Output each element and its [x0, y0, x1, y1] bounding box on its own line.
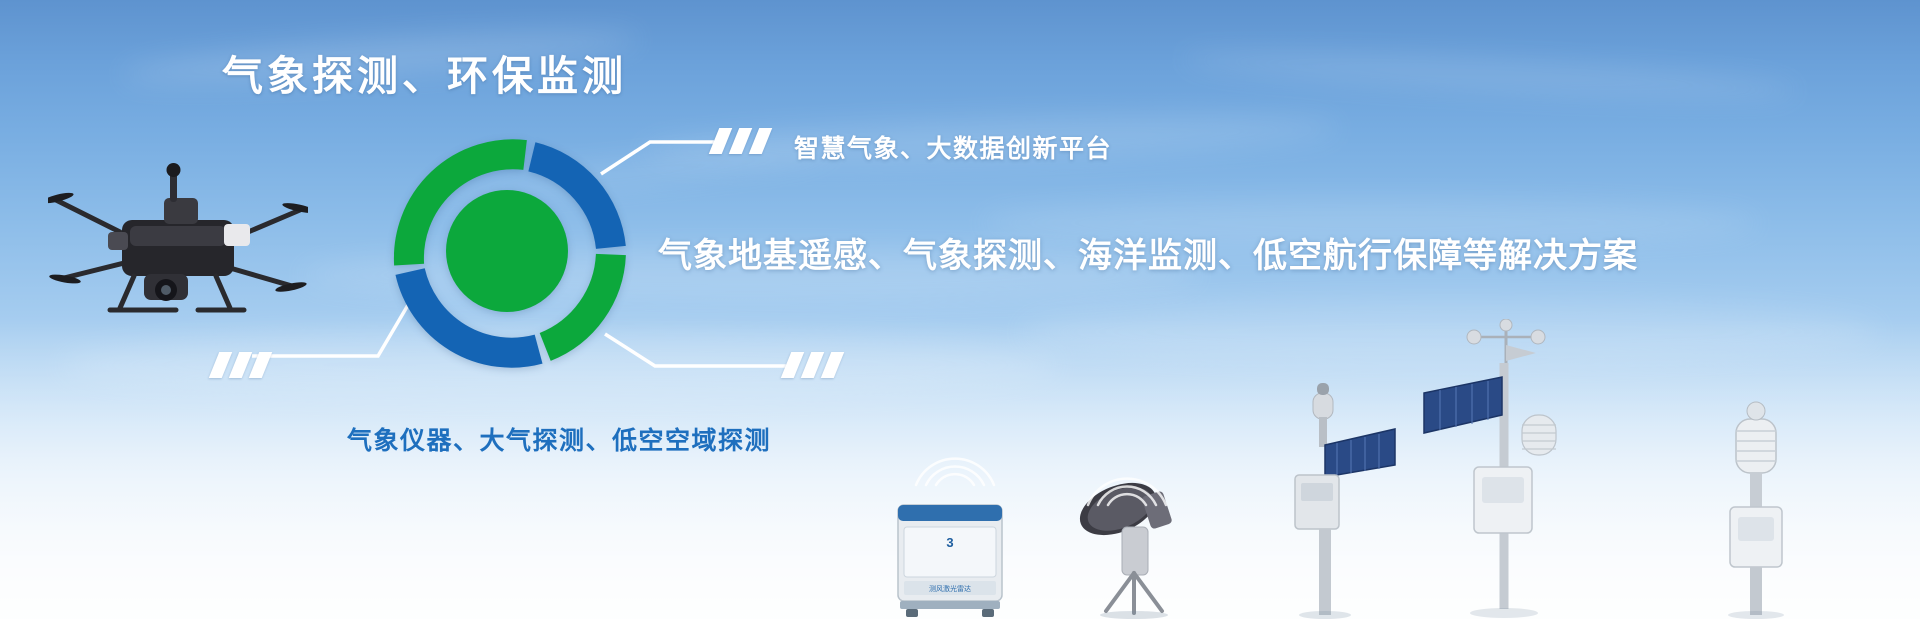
radiation-shield [1522, 415, 1556, 455]
laser-radar-cabinet-icon: 3 测风激光雷达 [890, 489, 1010, 619]
drone-icon [48, 158, 308, 338]
solar-monitor-station-icon [1275, 379, 1405, 619]
slash-marks-right [786, 352, 839, 378]
slash-marks-left [214, 352, 267, 378]
svg-text:3: 3 [946, 535, 953, 550]
banner-stage: 气象探测、环保监测 [0, 0, 1920, 619]
satellite-dish-icon [1060, 469, 1210, 619]
cloud-wisp [1180, 44, 1801, 106]
anemometer [1467, 319, 1545, 363]
sensor-mast-icon [1690, 389, 1820, 619]
ring-center-disc [446, 190, 568, 312]
ring-infographic [388, 132, 626, 370]
solar-panel [1424, 377, 1502, 433]
callout-text-top: 智慧气象、大数据创新平台 [794, 129, 1112, 165]
callout-text-main: 气象地基遥感、气象探测、海洋监测、低空航行保障等解决方案 [658, 228, 1638, 277]
callout-text-bottom: 气象仪器、大气探测、低空空域探测 [347, 421, 771, 457]
slash-marks-top [714, 128, 767, 154]
solar-weather-station-icon [1410, 319, 1600, 619]
svg-text:测风激光雷达: 测风激光雷达 [929, 584, 971, 593]
page-title: 气象探测、环保监测 [222, 52, 627, 101]
